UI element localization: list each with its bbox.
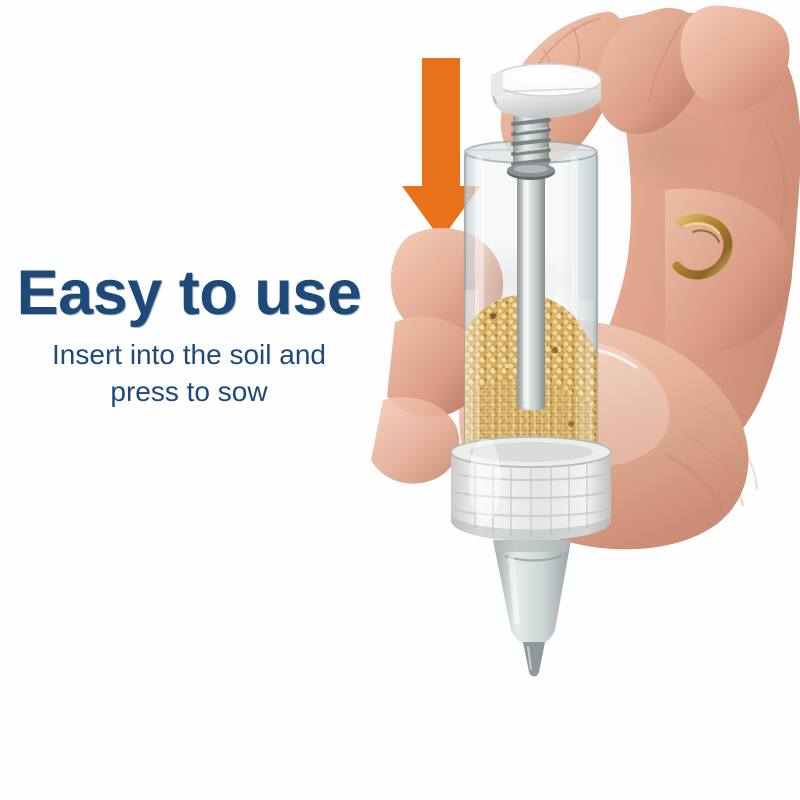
collar — [451, 437, 611, 541]
promo-text-block: Easy to use Insert into the soil and pre… — [0, 262, 378, 411]
plunger-cap — [491, 64, 601, 118]
dispensing-tip — [493, 540, 571, 677]
page-title: Easy to use — [0, 262, 378, 325]
screenshot-canvas: Easy to use Insert into the soil and pre… — [0, 0, 800, 800]
product-photo — [365, 0, 800, 690]
page-subtitle: Insert into the soil and press to sow — [0, 337, 378, 411]
